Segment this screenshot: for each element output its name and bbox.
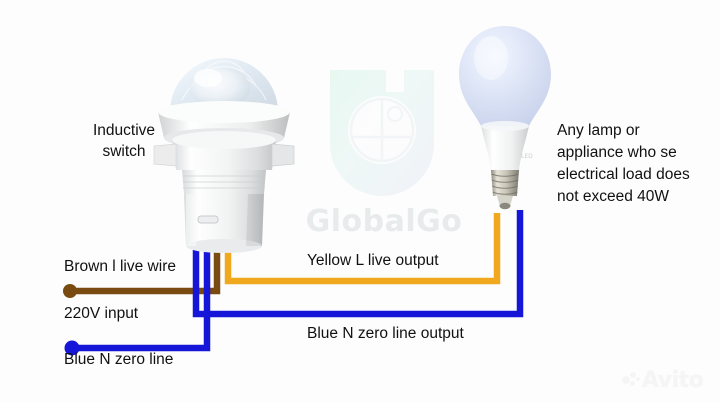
svg-text:LED: LED xyxy=(521,153,533,160)
label-blue-n-zero-line: Blue N zero line xyxy=(64,349,173,370)
terminal-dot-brown xyxy=(63,284,77,298)
lamp-bulb: LED xyxy=(455,22,555,212)
label-inductive-switch: Inductive switch xyxy=(64,120,184,162)
label-lamp-note: Any lamp or appliance who se electrical … xyxy=(557,120,707,208)
label-yellow-l-live-output: Yellow L live output xyxy=(307,250,439,271)
label-220v-input: 220V input xyxy=(64,303,138,324)
label-blue-n-zero-line-output: Blue N zero line output xyxy=(307,323,464,344)
label-brown-live-wire: Brown l live wire xyxy=(64,256,176,277)
diagram-canvas: GlobalGo Avito xyxy=(0,0,720,402)
